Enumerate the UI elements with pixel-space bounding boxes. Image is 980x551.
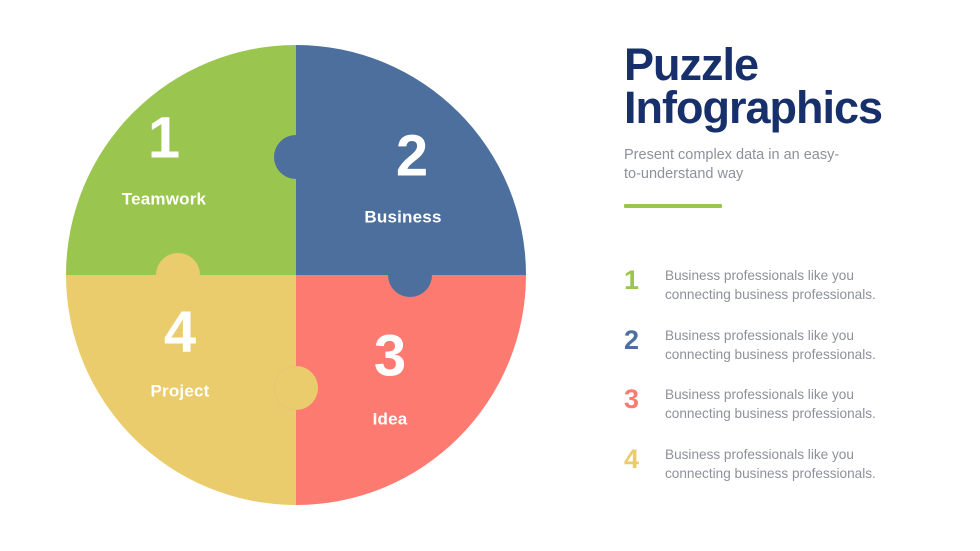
piece-socket-idea-left	[274, 366, 318, 410]
legend-item-4[interactable]: 4 Business professionals like you connec…	[624, 445, 944, 484]
piece-knob-business-left	[274, 135, 318, 179]
legend-number-4: 4	[624, 445, 665, 473]
page-subtitle: Present complex data in an easy- to-unde…	[624, 146, 944, 185]
legend-item-2[interactable]: 2 Business professionals like you connec…	[624, 326, 944, 365]
piece-number-project: 4	[164, 299, 196, 364]
legend-number-3: 3	[624, 385, 665, 413]
piece-knob-project-up	[156, 253, 200, 297]
puzzle-piece-idea[interactable]	[274, 275, 560, 535]
piece-label-idea: Idea	[373, 409, 408, 428]
legend-text-2: Business professionals like you connecti…	[665, 326, 876, 365]
legend-number-1: 1	[624, 266, 665, 294]
slide-canvas: 1 Teamwork 2 Business 3 Idea 4 Project P…	[0, 0, 980, 551]
piece-label-project: Project	[150, 381, 209, 400]
legend-list: 1 Business professionals like you connec…	[624, 266, 944, 483]
legend-number-2: 2	[624, 326, 665, 354]
puzzle-diagram: 1 Teamwork 2 Business 3 Idea 4 Project	[40, 20, 560, 535]
legend-text-1: Business professionals like you connecti…	[665, 266, 876, 305]
legend-item-1[interactable]: 1 Business professionals like you connec…	[624, 266, 944, 305]
piece-number-idea: 3	[374, 323, 406, 388]
header-block: Puzzle Infographics Present complex data…	[624, 44, 944, 208]
piece-body-idea	[274, 275, 560, 535]
page-title: Puzzle Infographics	[624, 44, 944, 130]
piece-label-business: Business	[364, 207, 441, 226]
legend-item-3[interactable]: 3 Business professionals like you connec…	[624, 385, 944, 424]
legend-text-3: Business professionals like you connecti…	[665, 385, 876, 424]
piece-number-business: 2	[396, 123, 428, 188]
accent-divider	[624, 204, 722, 208]
piece-label-teamwork: Teamwork	[122, 189, 207, 208]
piece-number-teamwork: 1	[148, 105, 180, 170]
piece-knob-business-down	[388, 253, 432, 297]
legend-text-4: Business professionals like you connecti…	[665, 445, 876, 484]
puzzle-svg: 1 Teamwork 2 Business 3 Idea 4 Project	[40, 20, 560, 535]
